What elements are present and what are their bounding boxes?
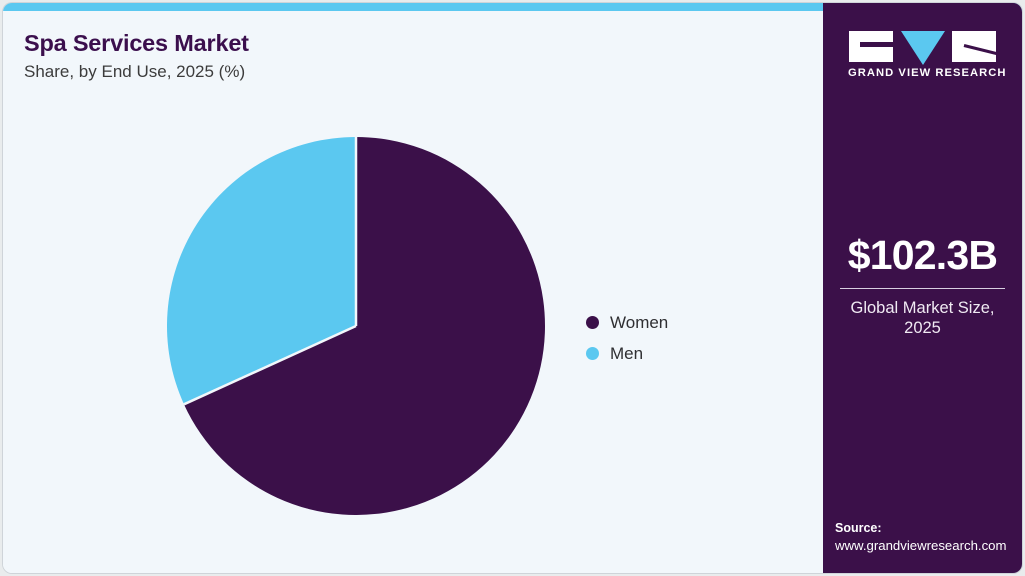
market-size-stat: $102.3B Global Market Size, 2025 <box>823 235 1022 338</box>
logo-v-triangle-icon <box>901 31 945 65</box>
legend-label-men: Men <box>610 344 643 364</box>
legend-swatch-men <box>586 347 599 360</box>
logo-wordmark: GRAND VIEW RESEARCH <box>848 67 998 79</box>
grand-view-research-logo[interactable]: GRAND VIEW RESEARCH <box>848 29 998 83</box>
legend-label-women: Women <box>610 313 668 333</box>
screenshot-canvas: Spa Services Market Share, by End Use, 2… <box>0 0 1025 576</box>
chart-legend: Women Men <box>586 307 668 369</box>
stat-divider <box>840 288 1005 289</box>
source-label: Source: <box>835 520 1022 537</box>
logo-g-notch-icon <box>860 42 893 47</box>
pie-chart-svg <box>167 137 545 515</box>
legend-item-women[interactable]: Women <box>586 307 668 338</box>
logo-r-slash-icon <box>964 44 996 57</box>
source-url[interactable]: www.grandviewresearch.com <box>835 537 1022 555</box>
page-subtitle: Share, by End Use, 2025 (%) <box>24 62 245 82</box>
logo-marks <box>848 29 998 65</box>
market-size-caption: Global Market Size, 2025 <box>823 298 1022 338</box>
logo-r-icon <box>952 31 996 62</box>
legend-item-men[interactable]: Men <box>586 338 668 369</box>
legend-swatch-women <box>586 316 599 329</box>
market-size-value: $102.3B <box>823 235 1022 276</box>
page-title: Spa Services Market <box>24 30 249 57</box>
source-block: Source: www.grandviewresearch.com <box>835 520 1022 555</box>
pie-chart <box>167 137 545 515</box>
side-panel: GRAND VIEW RESEARCH $102.3B Global Marke… <box>823 3 1022 573</box>
chart-area: Spa Services Market Share, by End Use, 2… <box>3 11 823 573</box>
infographic-card: Spa Services Market Share, by End Use, 2… <box>3 3 1022 573</box>
